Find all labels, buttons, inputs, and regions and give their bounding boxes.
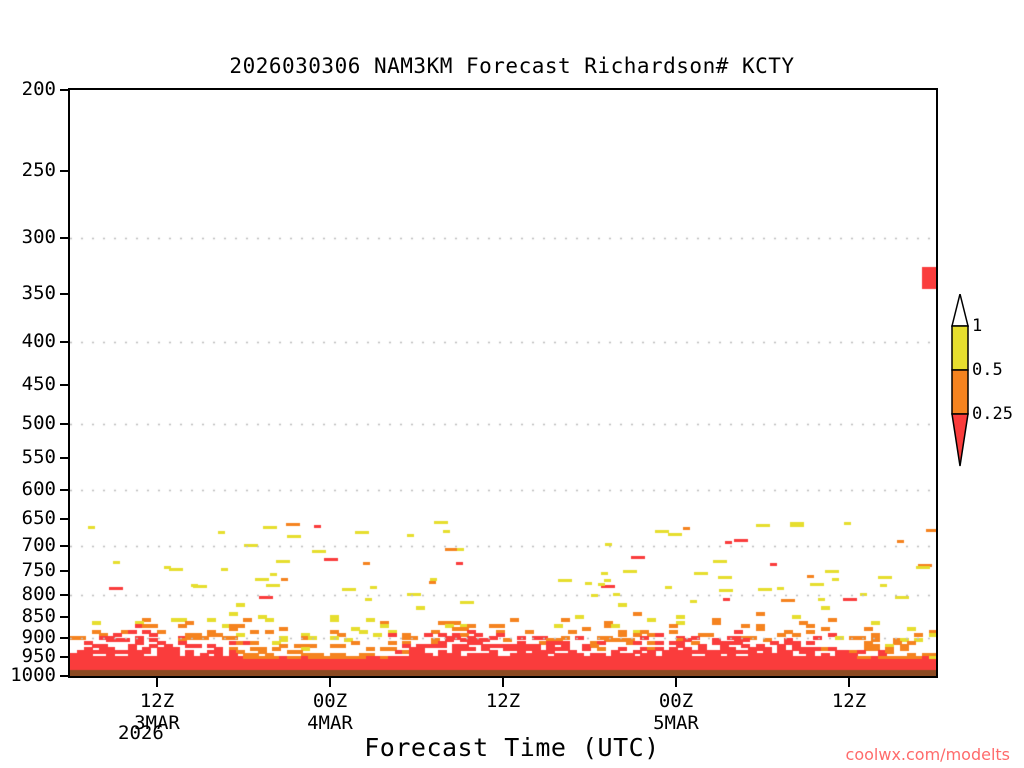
y-tick-label-900: 900 [22, 626, 56, 648]
y-tick-mark-700 [60, 545, 69, 547]
y-tick-label-1000: 1000 [10, 664, 56, 686]
y-tick-mark-400 [60, 341, 69, 343]
colorbar-red-swatch [952, 414, 968, 466]
x-tick-label-2: 12Z [463, 690, 543, 712]
y-tick-mark-450 [60, 384, 69, 386]
y-tick-label-300: 300 [22, 226, 56, 248]
y-tick-label-650: 650 [22, 507, 56, 529]
watermark-link[interactable]: coolwx.com/modelts [846, 745, 1010, 764]
x-tick-label-0: 12Z [117, 690, 197, 712]
x-tick-mark-4 [848, 678, 850, 687]
y-tick-label-500: 500 [22, 412, 56, 434]
y-tick-label-350: 350 [22, 282, 56, 304]
y-tick-mark-550 [60, 457, 69, 459]
y-tick-label-400: 400 [22, 330, 56, 352]
y-tick-mark-250 [60, 170, 69, 172]
y-tick-mark-650 [60, 518, 69, 520]
colorbar-label-0.25: 0.25 [972, 404, 1013, 424]
y-tick-mark-750 [60, 570, 69, 572]
x-tick-mark-1 [329, 678, 331, 687]
x-tick-label-3: 00Z [636, 690, 716, 712]
x-tick-label-4: 12Z [809, 690, 889, 712]
page-title: 2026030306 NAM3KM Forecast Richardson# K… [0, 54, 1024, 78]
y-tick-label-700: 700 [22, 534, 56, 556]
y-tick-mark-950 [60, 656, 69, 658]
x-tick-mark-2 [502, 678, 504, 687]
y-tick-mark-800 [60, 594, 69, 596]
heatmap-canvas[interactable] [70, 90, 936, 676]
y-tick-label-200: 200 [22, 78, 56, 100]
y-tick-label-850: 850 [22, 605, 56, 627]
y-tick-label-800: 800 [22, 583, 56, 605]
colorbar-label-0.5: 0.5 [972, 360, 1003, 380]
y-tick-mark-850 [60, 616, 69, 618]
y-tick-label-250: 250 [22, 159, 56, 181]
y-tick-mark-500 [60, 423, 69, 425]
x-tick-sublabel-1: 4MAR [280, 712, 380, 734]
colorbar-above-1-swatch [952, 294, 968, 326]
y-tick-mark-900 [60, 637, 69, 639]
x-tick-sublabel-3: 5MAR [626, 712, 726, 734]
y-tick-mark-350 [60, 293, 69, 295]
y-tick-label-600: 600 [22, 478, 56, 500]
colorbar-yellow-swatch [952, 326, 968, 370]
colorbar: 1 0.5 0.25 [938, 294, 1024, 476]
y-tick-mark-1000 [60, 675, 69, 677]
y-tick-label-750: 750 [22, 559, 56, 581]
y-tick-label-450: 450 [22, 373, 56, 395]
y-tick-mark-200 [60, 89, 69, 91]
y-axis: 2002503003504004505005506006507007508008… [0, 0, 64, 768]
colorbar-label-1: 1 [972, 316, 982, 336]
plot-area[interactable] [68, 88, 938, 678]
x-tick-mark-0 [156, 678, 158, 687]
x-tick-mark-3 [675, 678, 677, 687]
x-tick-label-1: 00Z [290, 690, 370, 712]
colorbar-orange-swatch [952, 370, 968, 414]
y-tick-mark-300 [60, 237, 69, 239]
y-tick-label-550: 550 [22, 446, 56, 468]
y-tick-mark-600 [60, 489, 69, 491]
chart-root: 2026030306 NAM3KM Forecast Richardson# K… [0, 0, 1024, 768]
